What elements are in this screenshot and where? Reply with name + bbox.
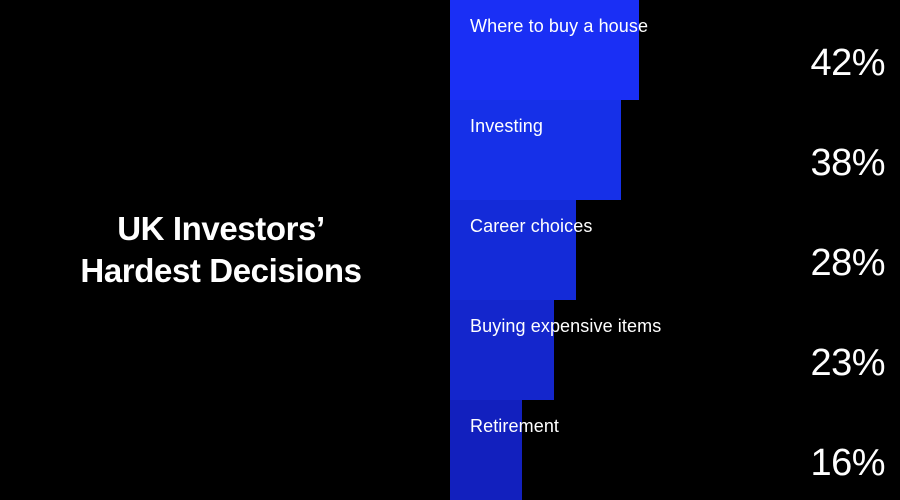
- bar-value: 16%: [810, 444, 885, 482]
- bar-label: Buying expensive items: [470, 316, 661, 337]
- bar-value: 38%: [810, 144, 885, 182]
- bar-row: Investing 38%: [0, 100, 900, 200]
- bar-where-to-buy-a-house: [450, 0, 639, 100]
- bar-chart: Where to buy a house 42% Investing 38% C…: [0, 0, 900, 500]
- bar-buying-expensive-items: [450, 300, 554, 400]
- bar-retirement: [450, 400, 522, 500]
- bar-investing: [450, 100, 621, 200]
- bar-row: Career choices 28%: [0, 200, 900, 300]
- bar-career-choices: [450, 200, 576, 300]
- bar-label: Investing: [470, 116, 543, 137]
- bar-value: 28%: [810, 244, 885, 282]
- infographic-canvas: UK Investors’ Hardest Decisions Where to…: [0, 0, 900, 500]
- bar-row: Where to buy a house 42%: [0, 0, 900, 100]
- bar-value: 42%: [810, 44, 885, 82]
- bar-row: Buying expensive items 23%: [0, 300, 900, 400]
- bar-label: Career choices: [470, 216, 592, 237]
- bar-row: Retirement 16%: [0, 400, 900, 500]
- bar-label: Where to buy a house: [470, 16, 648, 37]
- bar-value: 23%: [810, 344, 885, 382]
- bar-label: Retirement: [470, 416, 559, 437]
